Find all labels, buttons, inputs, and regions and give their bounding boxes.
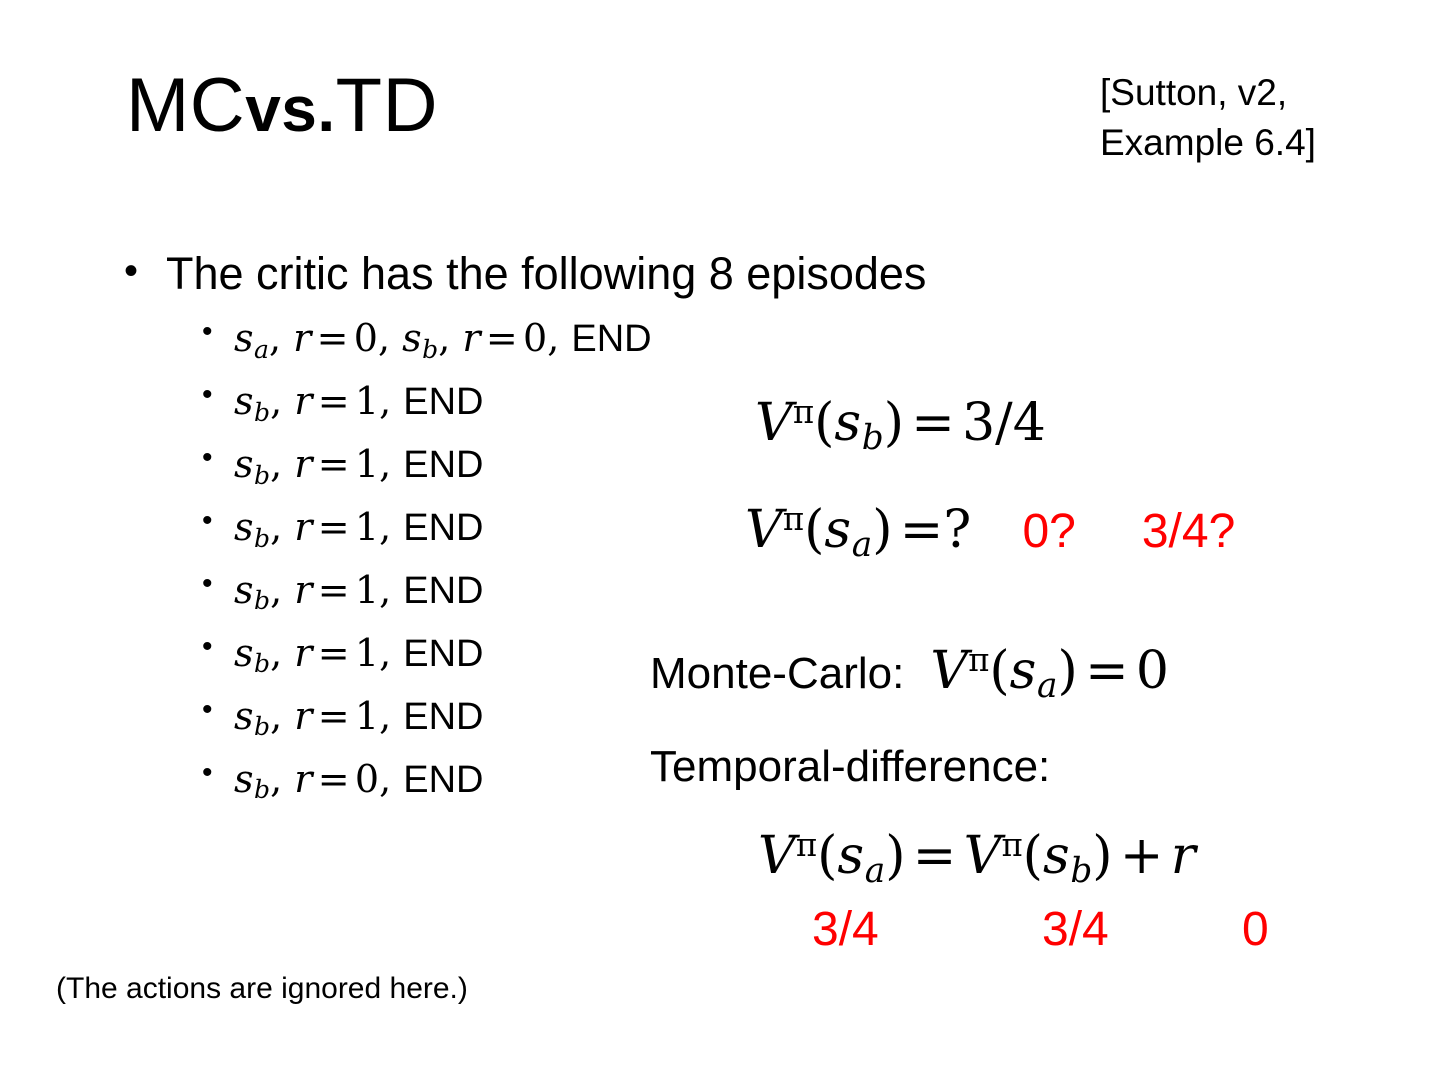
state-symbol: s: [1010, 641, 1037, 701]
list-item: • The critic has the following 8 episode…: [120, 248, 1100, 300]
equation-monte-carlo: Vπ(sa)=0: [930, 641, 1169, 701]
close-paren: ): [885, 826, 905, 886]
state-subscript: b: [862, 418, 884, 458]
comma: ,: [379, 694, 403, 738]
citation-line-2: Example 6.4]: [1100, 118, 1420, 168]
value-function-symbol: V: [930, 641, 968, 701]
value-function-symbol: V: [755, 393, 793, 453]
value-function-symbol: V: [745, 500, 783, 560]
comma: ,: [438, 316, 462, 360]
state-subscript: a: [254, 335, 269, 364]
red-option-zero: 0?: [1022, 505, 1075, 558]
state-subscript: b: [254, 712, 270, 741]
state-symbol: s: [234, 505, 254, 549]
footnote: (The actions are ignored here.): [56, 972, 468, 1006]
temporal-difference-red-annotations: 3/4 3/4 0: [770, 902, 1330, 962]
state-subscript: a: [1037, 666, 1057, 706]
policy-superscript: π: [796, 826, 817, 864]
equals-sign: =: [312, 442, 354, 486]
close-paren: ): [1092, 826, 1112, 886]
bullet-icon: •: [202, 686, 213, 735]
state-symbol: s: [234, 694, 254, 738]
close-paren: ): [872, 500, 892, 560]
comma: ,: [270, 442, 294, 486]
state-subscript: b: [1070, 851, 1092, 891]
end-marker: END: [403, 696, 483, 738]
state-symbol: s: [234, 631, 254, 675]
state-symbol: s: [234, 316, 254, 360]
reward-symbol: r: [293, 316, 311, 360]
red-value-rhs-r: 0: [1242, 902, 1269, 957]
reward-symbol: r: [294, 694, 312, 738]
comma: ,: [379, 505, 403, 549]
reward-symbol: r: [294, 568, 312, 612]
state-symbol: s: [834, 393, 861, 453]
episode-expression: sb, r=0, END: [234, 757, 483, 801]
reward-symbol: r: [294, 379, 312, 423]
citation-line-1: [Sutton, v2,: [1100, 68, 1420, 118]
state-subscript: b: [254, 398, 270, 427]
state-subscript: b: [422, 335, 438, 364]
value-result: 0: [1136, 641, 1169, 701]
reward-symbol: r: [462, 316, 480, 360]
comma: ,: [379, 442, 403, 486]
bullet-icon: •: [202, 497, 213, 546]
end-marker: END: [403, 381, 483, 423]
state-symbol: s: [1043, 826, 1070, 886]
state-subscript: b: [254, 649, 270, 678]
end-marker: END: [403, 759, 483, 801]
state-subscript: b: [254, 524, 270, 553]
comma: ,: [270, 631, 294, 675]
equals-sign: =: [1078, 641, 1136, 701]
episode-expression: sb, r=1, END: [234, 505, 483, 549]
comma: ,: [378, 316, 402, 360]
equation-value-sa-question: Vπ(sa)=?0?3/4?: [745, 500, 1235, 565]
equals-sign: =: [905, 826, 963, 886]
bullet-icon: •: [202, 434, 213, 483]
value-function-symbol: V: [758, 826, 796, 886]
episode-expression: sb, r=1, END: [234, 631, 483, 675]
temporal-difference-label: Temporal-difference:: [650, 742, 1050, 792]
comma: ,: [379, 757, 403, 801]
comma: ,: [379, 631, 403, 675]
episode-expression: sa, r=0, sb, r=0, END: [234, 316, 652, 360]
comma: ,: [270, 694, 294, 738]
equals-sign: =: [312, 694, 354, 738]
red-value-rhs-v: 3/4: [1042, 902, 1109, 957]
end-marker: END: [403, 633, 483, 675]
reward-symbol: r: [294, 442, 312, 486]
policy-superscript: π: [968, 641, 989, 679]
comma: ,: [269, 316, 293, 360]
bullet-icon: •: [202, 560, 213, 609]
state-symbol: s: [234, 568, 254, 612]
reward-value: 1: [355, 631, 379, 675]
episode-expression: sb, r=1, END: [234, 442, 483, 486]
comma: ,: [270, 568, 294, 612]
bullet-icon: •: [124, 248, 138, 294]
comma: ,: [379, 568, 403, 612]
equation-temporal-difference: Vπ(sa)=Vπ(sb)+r: [758, 826, 1196, 891]
open-paren: (: [817, 826, 837, 886]
reward-value: 0: [523, 316, 547, 360]
equals-sign: =: [312, 631, 354, 675]
comma: ,: [270, 757, 294, 801]
bullet-icon: •: [202, 623, 213, 672]
title-part-vs: vs.: [245, 73, 335, 145]
comma: ,: [270, 505, 294, 549]
equals-sign: =: [481, 316, 523, 360]
reward-value: 1: [355, 442, 379, 486]
state-symbol: s: [234, 379, 254, 423]
equation-value-sb: Vπ(sb)=3/4: [755, 393, 1046, 458]
bullet-icon: •: [202, 371, 213, 420]
reward-value: 0: [354, 316, 378, 360]
end-marker: END: [403, 444, 483, 486]
reward-value: 1: [355, 568, 379, 612]
episode-expression: sb, r=1, END: [234, 379, 483, 423]
state-subscript: b: [254, 775, 270, 804]
reward-value: 1: [355, 505, 379, 549]
monte-carlo-label: Monte-Carlo:: [650, 649, 904, 698]
red-value-lhs: 3/4: [812, 902, 879, 957]
state-symbol: s: [234, 757, 254, 801]
equals-sign: =: [312, 568, 354, 612]
title-part-mc: MC: [126, 63, 245, 148]
state-symbol: s: [837, 826, 864, 886]
reward-symbol: r: [294, 631, 312, 675]
close-paren: ): [1058, 641, 1078, 701]
close-paren: ): [884, 393, 904, 453]
equals-sign: =: [312, 379, 354, 423]
title-part-td: TD: [336, 63, 438, 148]
end-marker: END: [403, 570, 483, 612]
end-marker: END: [403, 507, 483, 549]
open-paren: (: [989, 641, 1009, 701]
open-paren: (: [804, 500, 824, 560]
open-paren: (: [814, 393, 834, 453]
policy-superscript: π: [793, 393, 814, 431]
red-option-three-quarters: 3/4?: [1142, 505, 1235, 558]
value-function-symbol: V: [964, 826, 1002, 886]
page-title: MCvs.TD: [126, 66, 438, 146]
end-marker: END: [571, 318, 651, 360]
value-result: 3/4: [962, 393, 1046, 453]
state-subscript: b: [254, 586, 270, 615]
state-subscript: b: [254, 461, 270, 490]
comma: ,: [547, 316, 571, 360]
comma: ,: [379, 379, 403, 423]
reward-value: 1: [355, 694, 379, 738]
list-item: • sa, r=0, sb, r=0, END: [120, 308, 1100, 371]
equals-sign: =: [312, 757, 354, 801]
list-item: • sb, r=1, END: [120, 560, 1100, 623]
episode-expression: sb, r=1, END: [234, 694, 483, 738]
equals-sign: =: [311, 316, 353, 360]
state-subscript: a: [865, 851, 885, 891]
bullet-icon: •: [202, 749, 213, 798]
state-subscript: a: [852, 525, 872, 565]
plus-sign: +: [1113, 826, 1171, 886]
policy-superscript: π: [1001, 826, 1022, 864]
state-symbol: s: [824, 500, 851, 560]
reward-value: 1: [355, 379, 379, 423]
reward-symbol: r: [294, 505, 312, 549]
open-paren: (: [1023, 826, 1043, 886]
slide-canvas: MCvs.TD [Sutton, v2, Example 6.4] • The …: [0, 0, 1442, 1082]
equals-question: =?: [892, 500, 978, 560]
state-symbol: s: [402, 316, 422, 360]
citation-reference: [Sutton, v2, Example 6.4]: [1100, 68, 1420, 168]
main-bullet-text: The critic has the following 8 episodes: [166, 248, 926, 299]
reward-symbol: r: [294, 757, 312, 801]
monte-carlo-line: Monte-Carlo:Vπ(sa)=0: [650, 641, 1169, 706]
equals-sign: =: [904, 393, 962, 453]
equals-sign: =: [312, 505, 354, 549]
comma: ,: [270, 379, 294, 423]
state-symbol: s: [234, 442, 254, 486]
bullet-icon: •: [202, 308, 213, 357]
reward-symbol: r: [1171, 826, 1196, 886]
policy-superscript: π: [783, 500, 804, 538]
episode-expression: sb, r=1, END: [234, 568, 483, 612]
reward-value: 0: [355, 757, 379, 801]
